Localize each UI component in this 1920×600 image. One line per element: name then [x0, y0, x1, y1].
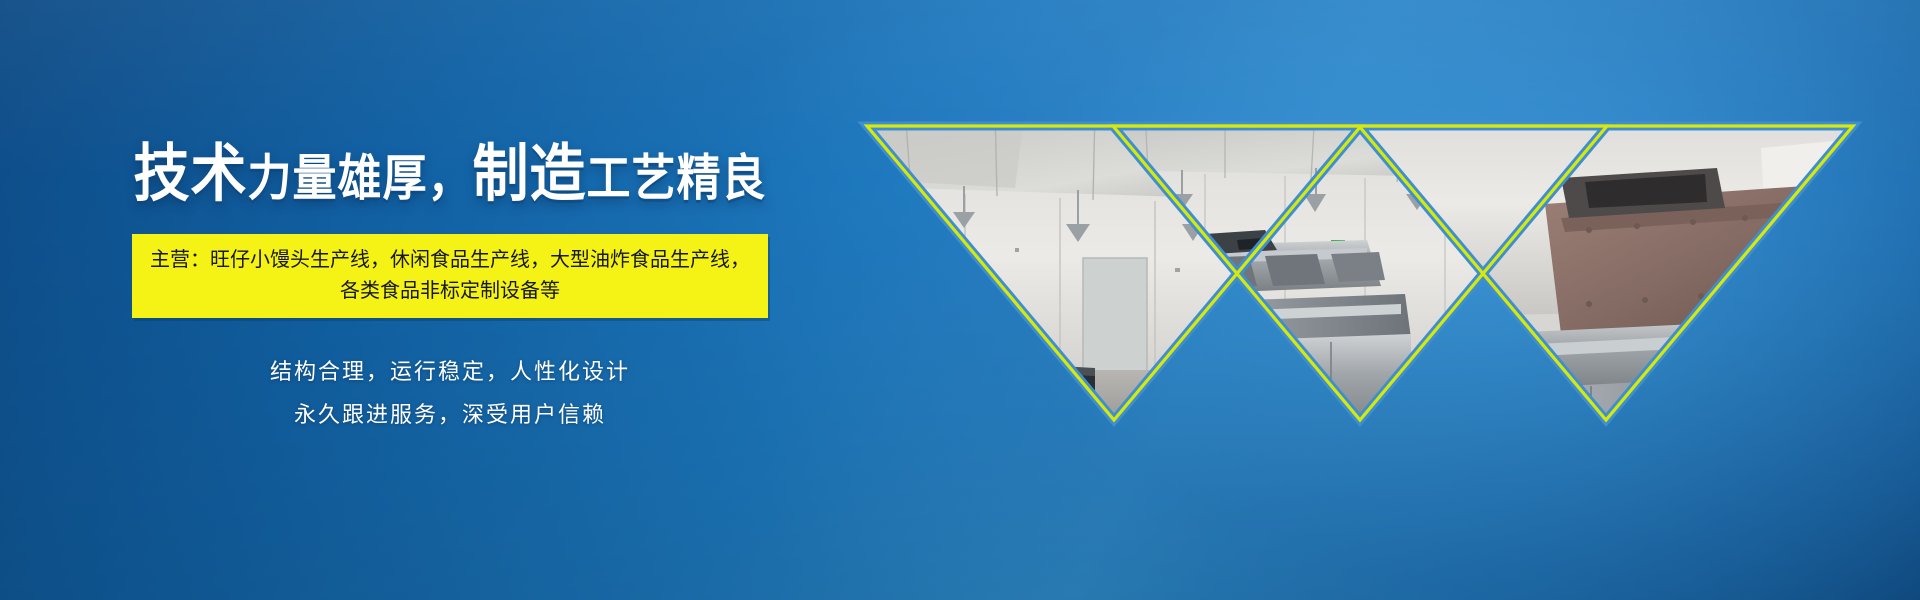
gallery-svg: [845, 108, 1865, 438]
headline-part-4: 工艺精良: [587, 150, 767, 207]
headline-part-3: 制造: [473, 138, 587, 211]
headline-part-1: 技术: [134, 138, 248, 211]
highlight-line-1: 主营：旺仔小馒头生产线，休闲食品生产线，大型油炸食品生产线，: [150, 244, 750, 275]
promo-banner: 技术力量雄厚，制造工艺精良 主营：旺仔小馒头生产线，休闲食品生产线，大型油炸食品…: [0, 0, 1920, 600]
tagline-group: 结构合理，运行稳定，人性化设计 永久跟进服务，深受用户信赖: [0, 352, 900, 438]
tagline-1: 结构合理，运行稳定，人性化设计: [0, 352, 900, 395]
highlight-line-2: 各类食品非标定制设备等: [150, 275, 750, 306]
main-business-highlight: 主营：旺仔小馒头生产线，休闲食品生产线，大型油炸食品生产线， 各类食品非标定制设…: [132, 234, 768, 318]
triangle-photo-gallery: [845, 108, 1865, 438]
tagline-2: 永久跟进服务，深受用户信赖: [0, 395, 900, 438]
banner-copy: 技术力量雄厚，制造工艺精良 主营：旺仔小馒头生产线，休闲食品生产线，大型油炸食品…: [0, 150, 900, 438]
headline-part-2: 力量雄厚，: [248, 150, 473, 207]
page-title: 技术力量雄厚，制造工艺精良: [0, 143, 900, 206]
